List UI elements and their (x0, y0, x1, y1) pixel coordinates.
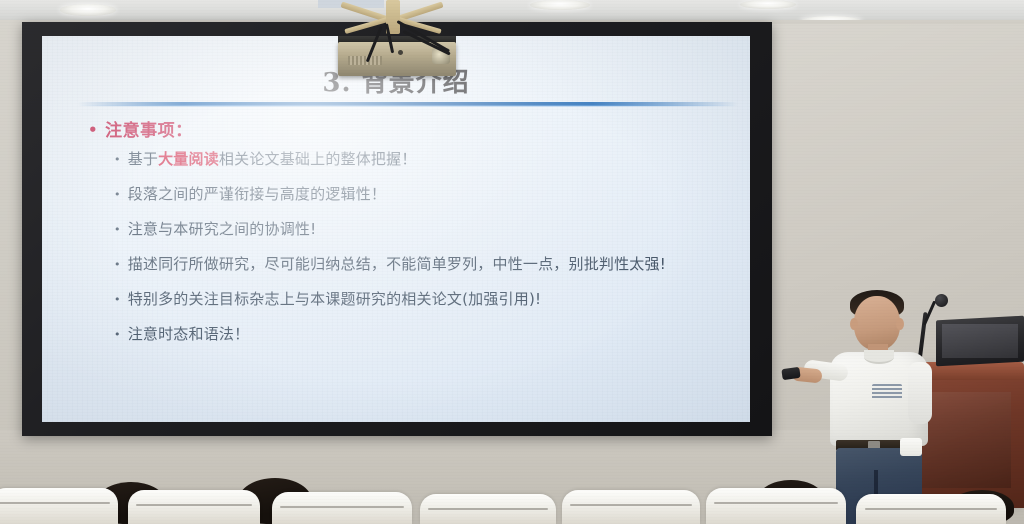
presenter-ear (896, 318, 904, 330)
bullet-text: 注意时态和语法！ (128, 324, 730, 345)
laptop-screen (942, 324, 1018, 358)
ceiling-light (530, 0, 590, 10)
presenter-collar (864, 350, 894, 364)
bullet-text: 特别多的关注目标杂志上与本课题研究的相关论文(加强引用)! (128, 289, 730, 310)
bullet-dot-icon: • (88, 120, 98, 140)
bullet-dot-icon: • (114, 289, 121, 310)
projection-screen: 3. 背景介绍 • 注意事项： • 基于大量阅读相关论文基础上的整体把握！ • … (42, 36, 750, 422)
presenter-ear (850, 318, 858, 330)
lecture-hall-scene: 3. 背景介绍 • 注意事项： • 基于大量阅读相关论文基础上的整体把握！ • … (0, 0, 1024, 524)
projector-mount (340, 0, 448, 40)
presenter-head (854, 296, 900, 350)
audience-seat (562, 490, 700, 524)
projector-led (398, 50, 403, 55)
bullet-text: 注意与本研究之间的协调性! (128, 219, 730, 240)
slide-body: • 注意事项： • 基于大量阅读相关论文基础上的整体把握！ • 段落之间的严谨衔… (80, 120, 730, 359)
list-item: • 段落之间的严谨衔接与高度的逻辑性！ (114, 184, 730, 205)
title-divider (78, 102, 738, 106)
bullet-dot-icon: • (114, 219, 121, 240)
bullet-text: 段落之间的严谨衔接与高度的逻辑性！ (128, 184, 730, 205)
list-item: • 注意与本研究之间的协调性! (114, 219, 730, 240)
projection-screen-frame: 3. 背景介绍 • 注意事项： • 基于大量阅读相关论文基础上的整体把握！ • … (22, 22, 772, 436)
audience-seat (272, 492, 412, 524)
audience-seat (128, 490, 260, 524)
audience-seat (706, 488, 846, 524)
bullet-text: 描述同行所做研究，尽可能归纳总结，不能简单罗列，中性一点，别批判性太强! (128, 254, 730, 275)
presenter-right-arm (908, 362, 932, 424)
bullet-dot-icon: • (114, 254, 121, 275)
slide-lead-text: 注意事项： (105, 120, 193, 142)
presenter (826, 288, 946, 524)
list-item: • 基于大量阅读相关论文基础上的整体把握！ (114, 149, 730, 170)
bullet-dot-icon: • (114, 149, 121, 170)
audience-seat (420, 494, 556, 524)
shirt-logo-icon (872, 384, 902, 400)
list-item: • 注意时态和语法！ (114, 324, 730, 345)
ceiling-light (60, 4, 116, 16)
slide-lead-bullet: • 注意事项： (88, 120, 730, 142)
audience-seat (856, 494, 1006, 524)
ceiling-light (740, 0, 796, 9)
list-item: • 描述同行所做研究，尽可能归纳总结，不能简单罗列，中性一点，别批判性太强! (114, 254, 730, 275)
bullet-dot-icon: • (114, 324, 121, 345)
bullet-dot-icon: • (114, 184, 121, 205)
bullet-text: 基于大量阅读相关论文基础上的整体把握！ (128, 149, 730, 170)
slide-bullet-list: • 基于大量阅读相关论文基础上的整体把握！ • 段落之间的严谨衔接与高度的逻辑性… (80, 149, 730, 345)
bullet-highlight: 大量阅读 (158, 150, 219, 168)
presenter-hand-right (900, 438, 922, 456)
audience-seat (0, 488, 118, 524)
list-item: • 特别多的关注目标杂志上与本课题研究的相关论文(加强引用)! (114, 289, 730, 310)
